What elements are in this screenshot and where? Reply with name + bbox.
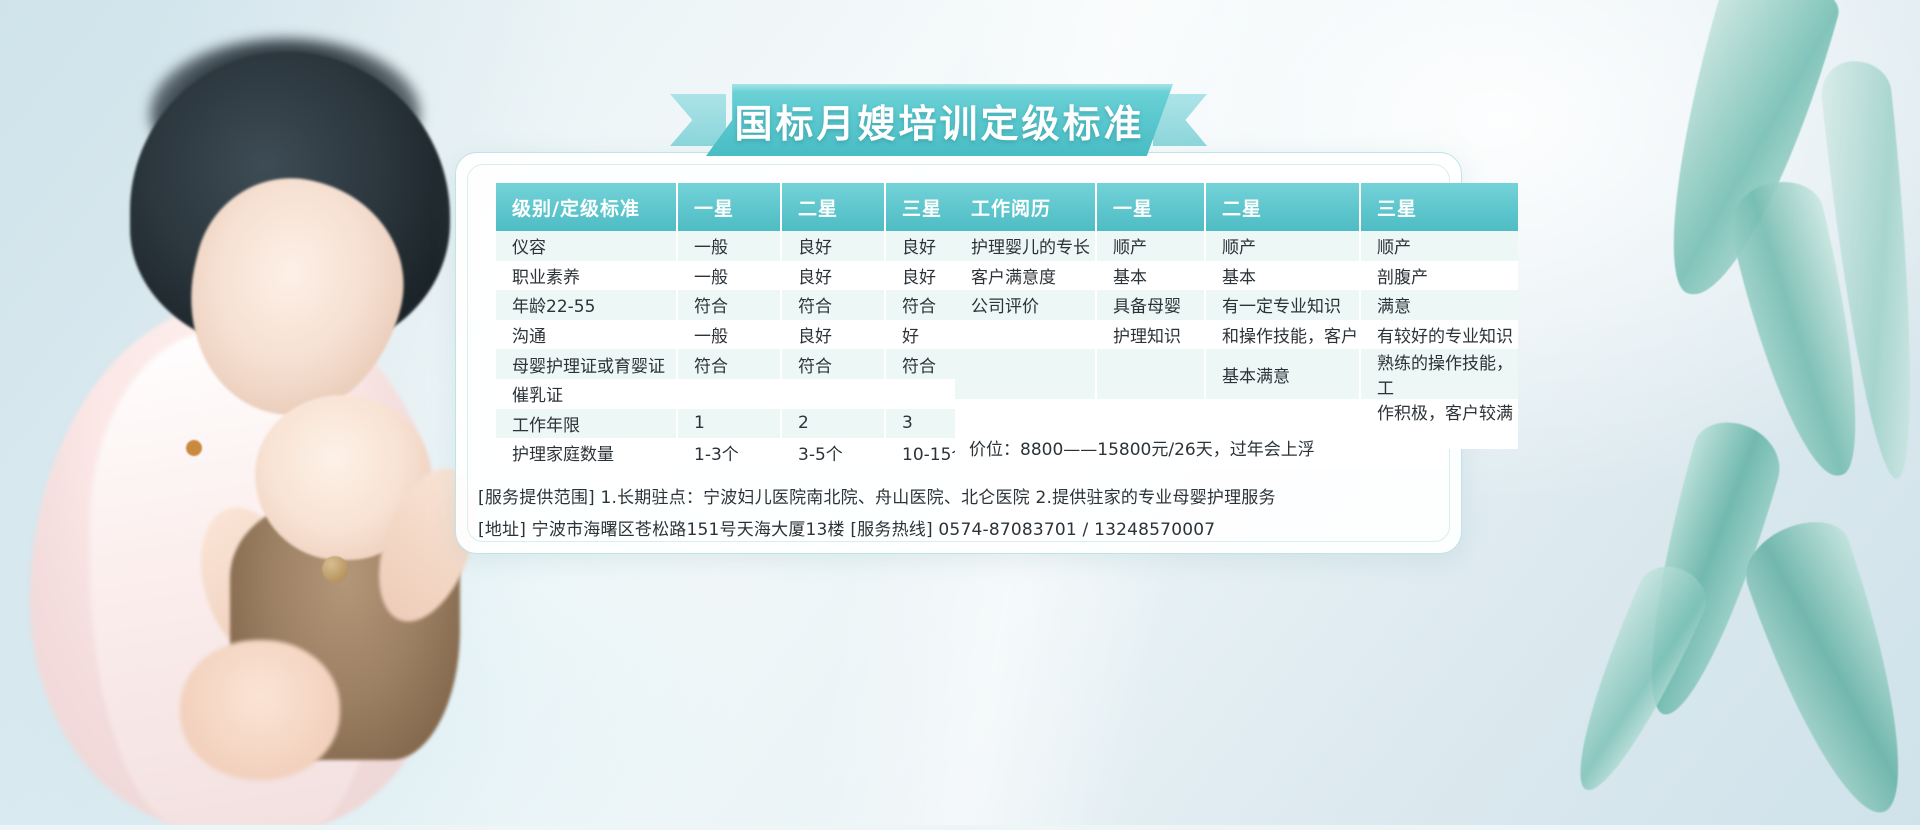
cell-one-star: 符合 <box>677 290 781 320</box>
work-experience-table: 工作阅历 一星 二星 三星 护理婴儿的专长 顺产 顺产 顺产 客户满意度 基本 … <box>955 183 1518 449</box>
cell-one-star: 具备母婴 <box>1096 290 1205 320</box>
cell-two-star: 基本满意 <box>1205 349 1360 399</box>
baby-overall-button <box>322 556 348 582</box>
table-row: 年龄22-55 符合 符合 符合 <box>496 290 989 320</box>
col-header-two-star: 二星 <box>781 183 885 231</box>
cell-one-star: 顺产 <box>1096 231 1205 261</box>
table-row: 催乳证 <box>496 379 989 409</box>
cell-one-star <box>1096 349 1205 399</box>
supporting-hand <box>180 640 340 780</box>
col-header-experience: 工作阅历 <box>955 183 1096 231</box>
table-row: 护理婴儿的专长 顺产 顺产 顺产 <box>955 231 1518 261</box>
cell-one-star: 符合 <box>677 349 781 379</box>
table-row: 职业素养 一般 良好 良好 <box>496 261 989 291</box>
col-header-three-star: 三星 <box>1360 183 1518 231</box>
cell-criteria: 母婴护理证或育婴证 <box>496 349 677 379</box>
cell-criteria: 年龄22-55 <box>496 290 677 320</box>
footer-service-scope: [服务提供范围] 1.长期驻点：宁波妇儿医院南北院、舟山医院、北仑医院 2.提供… <box>478 482 1478 514</box>
banner-title: 国标月嫂培训定级标准 <box>706 84 1173 156</box>
cell-one-star <box>677 379 781 409</box>
cell-two-star: 良好 <box>781 320 885 350</box>
cell-three-star: 有较好的专业知识 <box>1360 320 1518 350</box>
table-row: 工作年限 1 2 3 <box>496 409 989 439</box>
coat-button <box>186 440 202 456</box>
cell-two-star: 和操作技能，客户 <box>1205 320 1360 350</box>
cell-one-star: 1-3个 <box>677 438 781 468</box>
cell-one-star: 基本 <box>1096 261 1205 291</box>
cell-criteria: 沟通 <box>496 320 677 350</box>
cell-three-star: 满意 <box>1360 290 1518 320</box>
cell-two-star: 良好 <box>781 231 885 261</box>
cell-three-star: 熟练的操作技能，工 <box>1360 349 1518 399</box>
cell-criteria: 职业素养 <box>496 261 677 291</box>
cell-experience: 客户满意度 <box>955 261 1096 291</box>
cell-two-star: 基本 <box>1205 261 1360 291</box>
cell-three-star: 顺产 <box>1360 231 1518 261</box>
cell-one-star: 一般 <box>677 261 781 291</box>
cell-criteria: 仪容 <box>496 231 677 261</box>
table-row: 公司评价 具备母婴 有一定专业知识 满意 <box>955 290 1518 320</box>
cell-one-star: 护理知识 <box>1096 320 1205 350</box>
cell-two-star: 顺产 <box>1205 231 1360 261</box>
title-banner: 国标月嫂培训定级标准 <box>706 84 1173 156</box>
table-row: 基本满意 熟练的操作技能，工 <box>955 349 1518 399</box>
cell-two-star: 有一定专业知识 <box>1205 290 1360 320</box>
cell-experience <box>955 349 1096 399</box>
col-header-one-star: 一星 <box>1096 183 1205 231</box>
cell-experience <box>955 320 1096 350</box>
cell-criteria: 工作年限 <box>496 409 677 439</box>
cell-experience: 护理婴儿的专长 <box>955 231 1096 261</box>
table-row: 客户满意度 基本 基本 剖腹产 <box>955 261 1518 291</box>
cell-one-star: 一般 <box>677 320 781 350</box>
col-header-one-star: 一星 <box>677 183 781 231</box>
cell-one-star: 1 <box>677 409 781 439</box>
table-row: 仪容 一般 良好 良好 <box>496 231 989 261</box>
cell-two-star: 良好 <box>781 261 885 291</box>
cell-two-star: 3-5个 <box>781 438 885 468</box>
table-row: 护理家庭数量 1-3个 3-5个 10-15个 <box>496 438 989 468</box>
table-row: 母婴护理证或育婴证 符合 符合 符合 <box>496 349 989 379</box>
cell-criteria: 护理家庭数量 <box>496 438 677 468</box>
price-note: 价位：8800——15800元/26天，过年会上浮 <box>955 424 1448 470</box>
grading-standard-table: 级别/定级标准 一星 二星 三星 仪容 一般 良好 良好 职业素养 一般 良好 … <box>496 183 989 468</box>
cell-three-star: 剖腹产 <box>1360 261 1518 291</box>
cell-one-star: 一般 <box>677 231 781 261</box>
footer-info: [服务提供范围] 1.长期驻点：宁波妇儿医院南北院、舟山医院、北仑医院 2.提供… <box>478 482 1478 546</box>
col-header-criteria: 级别/定级标准 <box>496 183 677 231</box>
cell-experience: 公司评价 <box>955 290 1096 320</box>
col-header-two-star: 二星 <box>1205 183 1360 231</box>
cell-criteria: 催乳证 <box>496 379 677 409</box>
cell-two-star: 2 <box>781 409 885 439</box>
cell-two-star <box>781 379 885 409</box>
table-row: 护理知识 和操作技能，客户 有较好的专业知识 <box>955 320 1518 350</box>
footer-address-hotline: [地址] 宁波市海曙区苍松路151号天海大厦13楼 [服务热线] 0574-87… <box>478 514 1478 546</box>
table-row: 沟通 一般 良好 好 <box>496 320 989 350</box>
cell-two-star: 符合 <box>781 290 885 320</box>
table-header-row: 工作阅历 一星 二星 三星 <box>955 183 1518 231</box>
table-header-row: 级别/定级标准 一星 二星 三星 <box>496 183 989 231</box>
cell-two-star: 符合 <box>781 349 885 379</box>
